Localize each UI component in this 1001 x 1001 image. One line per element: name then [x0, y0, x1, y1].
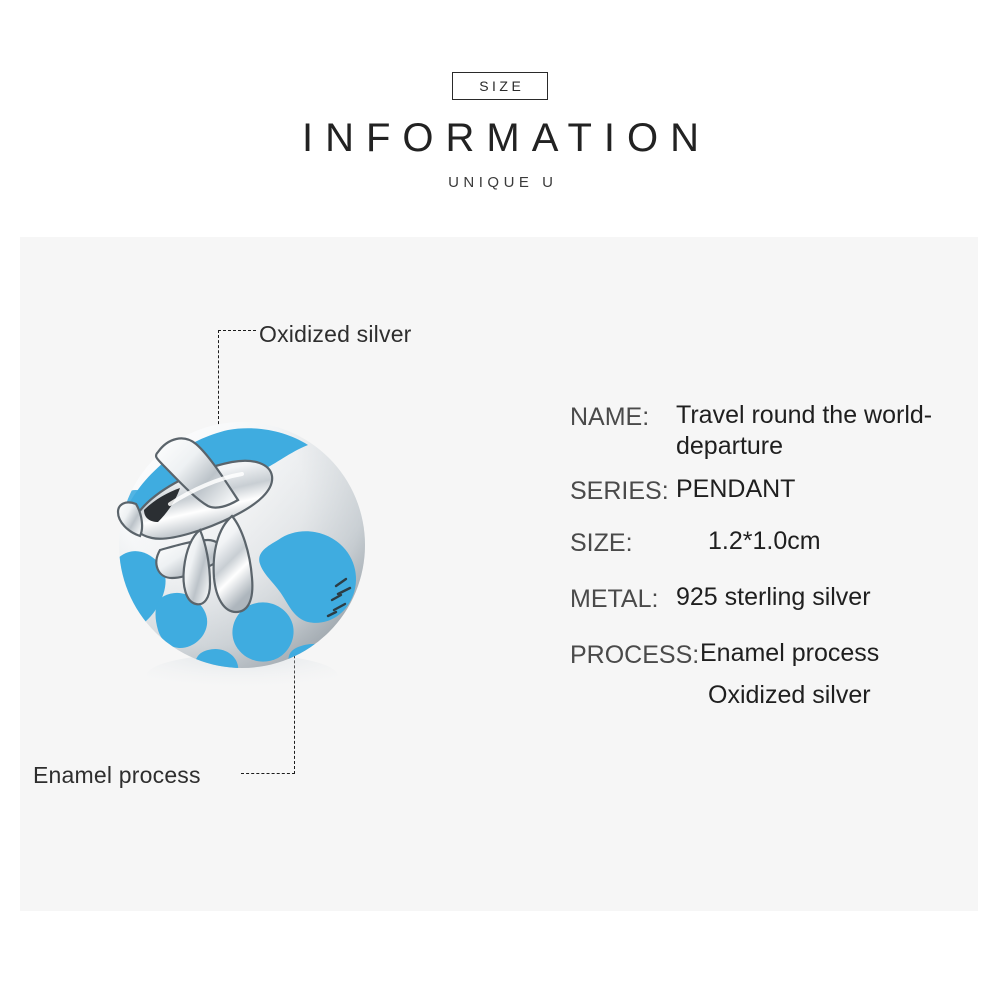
- product-information-graphic: SIZE INFORMATION UNIQUE U Oxidized silve…: [0, 0, 1001, 1001]
- specifications-list: NAME: Travel round the world- departure …: [570, 400, 970, 711]
- spec-row-metal: METAL: 925 sterling silver: [570, 582, 970, 616]
- size-badge-label: SIZE: [476, 78, 525, 94]
- globe-charm-illustration: [100, 400, 400, 700]
- spec-value-process: Enamel process: [700, 638, 879, 669]
- spec-value-series: PENDANT: [676, 474, 795, 505]
- spec-label-metal: METAL:: [570, 582, 676, 616]
- spec-label-size: SIZE:: [570, 526, 676, 560]
- spec-row-process: PROCESS: Enamel process: [570, 638, 970, 672]
- spec-value-size: 1.2*1.0cm: [676, 526, 821, 557]
- header-band: SIZE INFORMATION UNIQUE U: [0, 0, 1001, 237]
- spec-row-series: SERIES: PENDANT: [570, 474, 970, 508]
- spec-row-process-extra: Oxidized silver: [570, 680, 970, 711]
- callout-label-enamel-process: Enamel process: [33, 762, 201, 789]
- spec-value-process-extra: Oxidized silver: [708, 680, 970, 711]
- size-badge: SIZE: [452, 72, 548, 100]
- product-image-globe-charm: [100, 400, 400, 700]
- page-title: INFORMATION: [0, 116, 1001, 160]
- spec-label-process: PROCESS:: [570, 638, 700, 672]
- callout-top-leader-horizontal: [218, 330, 256, 331]
- spec-row-size: SIZE: 1.2*1.0cm: [570, 526, 970, 560]
- spec-label-series: SERIES:: [570, 474, 676, 508]
- spec-label-name: NAME:: [570, 400, 676, 434]
- page-subtitle: UNIQUE U: [0, 174, 1001, 191]
- callout-label-oxidized-silver: Oxidized silver: [259, 321, 412, 348]
- callout-bottom-leader-horizontal: [241, 773, 295, 774]
- spec-row-name: NAME: Travel round the world- departure: [570, 400, 970, 462]
- spec-value-name: Travel round the world- departure: [676, 400, 944, 462]
- spec-value-metal: 925 sterling silver: [676, 582, 871, 613]
